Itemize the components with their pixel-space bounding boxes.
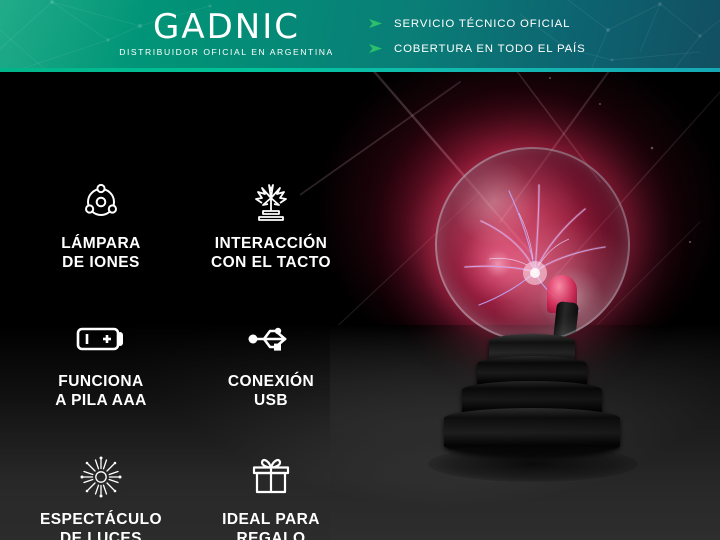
feature-label-line1: IDEAL PARA <box>222 511 320 528</box>
claim-item: SERVICIO TÉCNICO OFICIAL <box>368 11 586 36</box>
feature-label-line2: REGALO <box>236 530 305 540</box>
feature-grid: LÁMPARADE IONES <box>16 172 356 540</box>
claim-text: SERVICIO TÉCNICO OFICIAL <box>394 18 570 30</box>
header-claims: SERVICIO TÉCNICO OFICIAL COBERTURA EN TO… <box>368 11 586 61</box>
feature-item-funciona-a-pila-aaa: FUNCIONAA PILA AAA <box>16 310 186 410</box>
claim-text: COBERTURA EN TODO EL PAÍS <box>394 43 586 55</box>
header-bar: GADNIC DISTRIBUIDOR OFICIAL EN ARGENTINA… <box>0 0 720 72</box>
feature-row: FUNCIONAA PILA AAA <box>16 310 356 410</box>
brand-subtitle: DISTRIBUIDOR OFICIAL EN ARGENTINA <box>119 47 334 58</box>
atom-icon <box>79 179 123 223</box>
feature-label: LÁMPARADE IONES <box>61 234 141 272</box>
brand-name: GADNIC <box>119 8 334 46</box>
gift-icon <box>249 455 293 499</box>
feature-label-line1: CONEXIÓN <box>228 373 314 390</box>
feature-label-line2: USB <box>254 392 288 409</box>
brand-logo: GADNIC DISTRIBUIDOR OFICIAL EN ARGENTINA <box>119 8 334 58</box>
feature-item-lampara-de-iones: LÁMPARADE IONES <box>16 172 186 272</box>
feature-label: IDEAL PARAREGALO <box>222 510 320 540</box>
feature-label: CONEXIÓNUSB <box>228 372 314 410</box>
feature-label-line1: FUNCIONA <box>58 373 143 390</box>
feature-icon-wrap <box>249 448 293 506</box>
arrow-right-icon <box>368 18 385 29</box>
product-banner: GADNIC DISTRIBUIDOR OFICIAL EN ARGENTINA… <box>0 0 720 540</box>
feature-icon-wrap <box>75 310 127 368</box>
feature-icon-wrap <box>76 448 126 506</box>
feature-label-line1: LÁMPARA <box>61 235 141 252</box>
network-pattern-icon <box>0 0 720 72</box>
usb-icon <box>245 322 297 356</box>
arrow-right-icon <box>368 43 385 54</box>
feature-item-interaccion-con-el-tacto: INTERACCIÓNCON EL TACTO <box>186 172 356 272</box>
feature-icon-wrap <box>248 172 294 230</box>
feature-label: INTERACCIÓNCON EL TACTO <box>211 234 331 272</box>
feature-icon-wrap <box>79 172 123 230</box>
feature-label: FUNCIONAA PILA AAA <box>55 372 146 410</box>
feature-label-line1: ESPECTÁCULO <box>40 511 162 528</box>
feature-label-line1: INTERACCIÓN <box>215 235 328 252</box>
feature-label-line2: DE IONES <box>62 254 140 271</box>
feature-row: LÁMPARADE IONES <box>16 172 356 272</box>
row-spacer <box>16 272 356 310</box>
light-burst-icon <box>76 452 126 502</box>
claim-item: COBERTURA EN TODO EL PAÍS <box>368 36 586 61</box>
plasma-ball-icon <box>248 178 294 224</box>
feature-label-line2: DE LUCES <box>60 530 142 540</box>
feature-label-line2: A PILA AAA <box>55 392 146 409</box>
feature-row: ESPECTÁCULODE LUCES <box>16 448 356 540</box>
feature-item-espectaculo-de-luces: ESPECTÁCULODE LUCES <box>16 448 186 540</box>
feature-label-line2: CON EL TACTO <box>211 254 331 271</box>
product-stage: LÁMPARADE IONES <box>0 72 720 540</box>
battery-icon <box>75 322 127 356</box>
feature-icon-wrap <box>245 310 297 368</box>
row-spacer <box>16 410 356 448</box>
feature-item-ideal-para-regalo: IDEAL PARAREGALO <box>186 448 356 540</box>
feature-label: ESPECTÁCULODE LUCES <box>40 510 162 540</box>
feature-item-conexion-usb: CONEXIÓNUSB <box>186 310 356 410</box>
